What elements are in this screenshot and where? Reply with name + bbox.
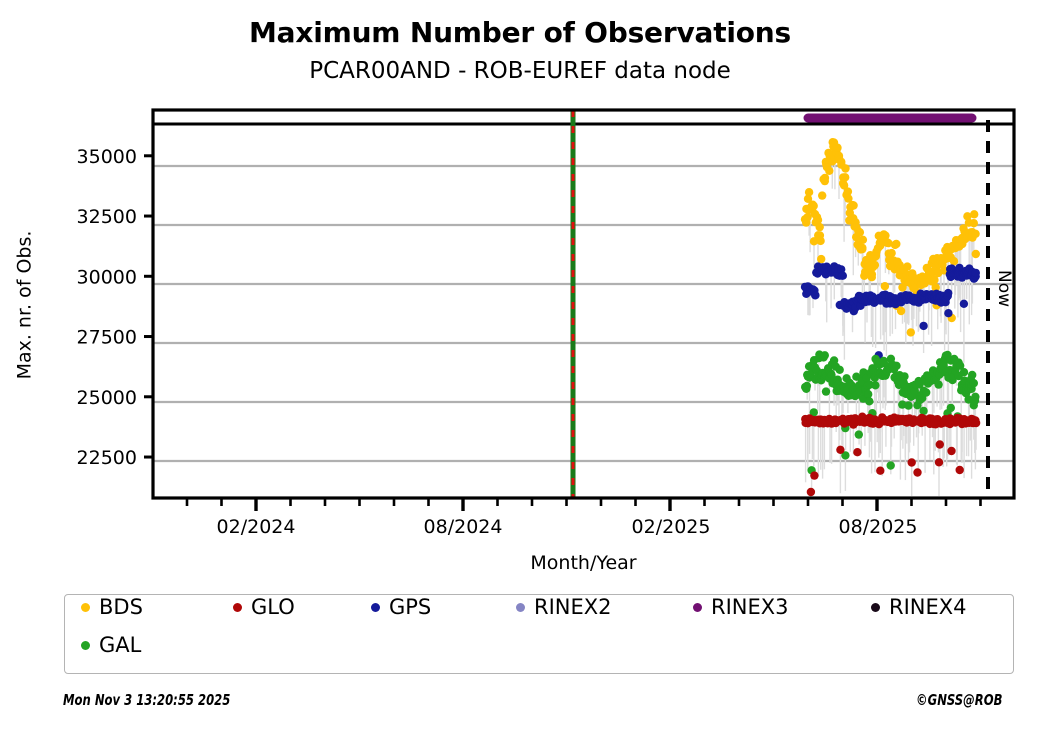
x-tick-label: 08/2024 (424, 516, 503, 538)
legend-marker-rinex3-icon (693, 603, 702, 612)
y-tick-label: 22500 (77, 447, 137, 469)
footer-copyright: ©GNSS@ROB (916, 691, 1002, 709)
y-axis-ticks: 225002500027500300003250035000 (77, 146, 153, 469)
y-tick-label: 35000 (77, 146, 137, 168)
legend-marker-glo-icon (233, 603, 242, 612)
x-tick-label: 08/2025 (839, 516, 918, 538)
legend-item-glo[interactable]: GLO (233, 595, 295, 619)
footer-timestamp: Mon Nov 3 13:20:55 2025 (63, 691, 230, 709)
y-tick-label: 27500 (77, 327, 137, 349)
x-tick-label: 02/2024 (217, 516, 296, 538)
legend-item-rinex4[interactable]: RINEX4 (871, 595, 967, 619)
legend-marker-bds-icon (81, 603, 90, 612)
legend-marker-rinex4-icon (871, 603, 880, 612)
now-line-label: Now (994, 270, 1014, 307)
legend-label: BDS (99, 595, 143, 619)
legend-item-rinex3[interactable]: RINEX3 (693, 595, 789, 619)
chart-root: Maximum Number of Observations PCAR00AND… (0, 0, 1040, 734)
y-tick-label: 30000 (77, 266, 137, 288)
legend-label: RINEX4 (889, 595, 967, 619)
legend-label: RINEX3 (711, 595, 789, 619)
legend-marker-rinex2-icon (516, 603, 525, 612)
plot-area: Now 225002500027500300003250035000 02/20… (0, 0, 1040, 600)
x-axis-ticks: 02/202408/202402/202508/2025 (187, 498, 981, 538)
x-tick-label: 02/2025 (632, 516, 711, 538)
legend-label: RINEX2 (534, 595, 612, 619)
legend-item-rinex2[interactable]: RINEX2 (516, 595, 612, 619)
legend: BDSGLOGPSRINEX2RINEX3RINEX4 GAL (64, 594, 1014, 674)
legend-label: GAL (99, 633, 141, 657)
legend-item-bds[interactable]: BDS (81, 595, 143, 619)
y-tick-label: 25000 (77, 387, 137, 409)
legend-item-gps[interactable]: GPS (371, 595, 431, 619)
legend-item-gal[interactable]: GAL (81, 633, 141, 657)
y-tick-label: 32500 (77, 206, 137, 228)
legend-marker-gps-icon (371, 603, 380, 612)
legend-marker-gal-icon (81, 641, 90, 650)
legend-label: GPS (389, 595, 431, 619)
legend-label: GLO (251, 595, 295, 619)
